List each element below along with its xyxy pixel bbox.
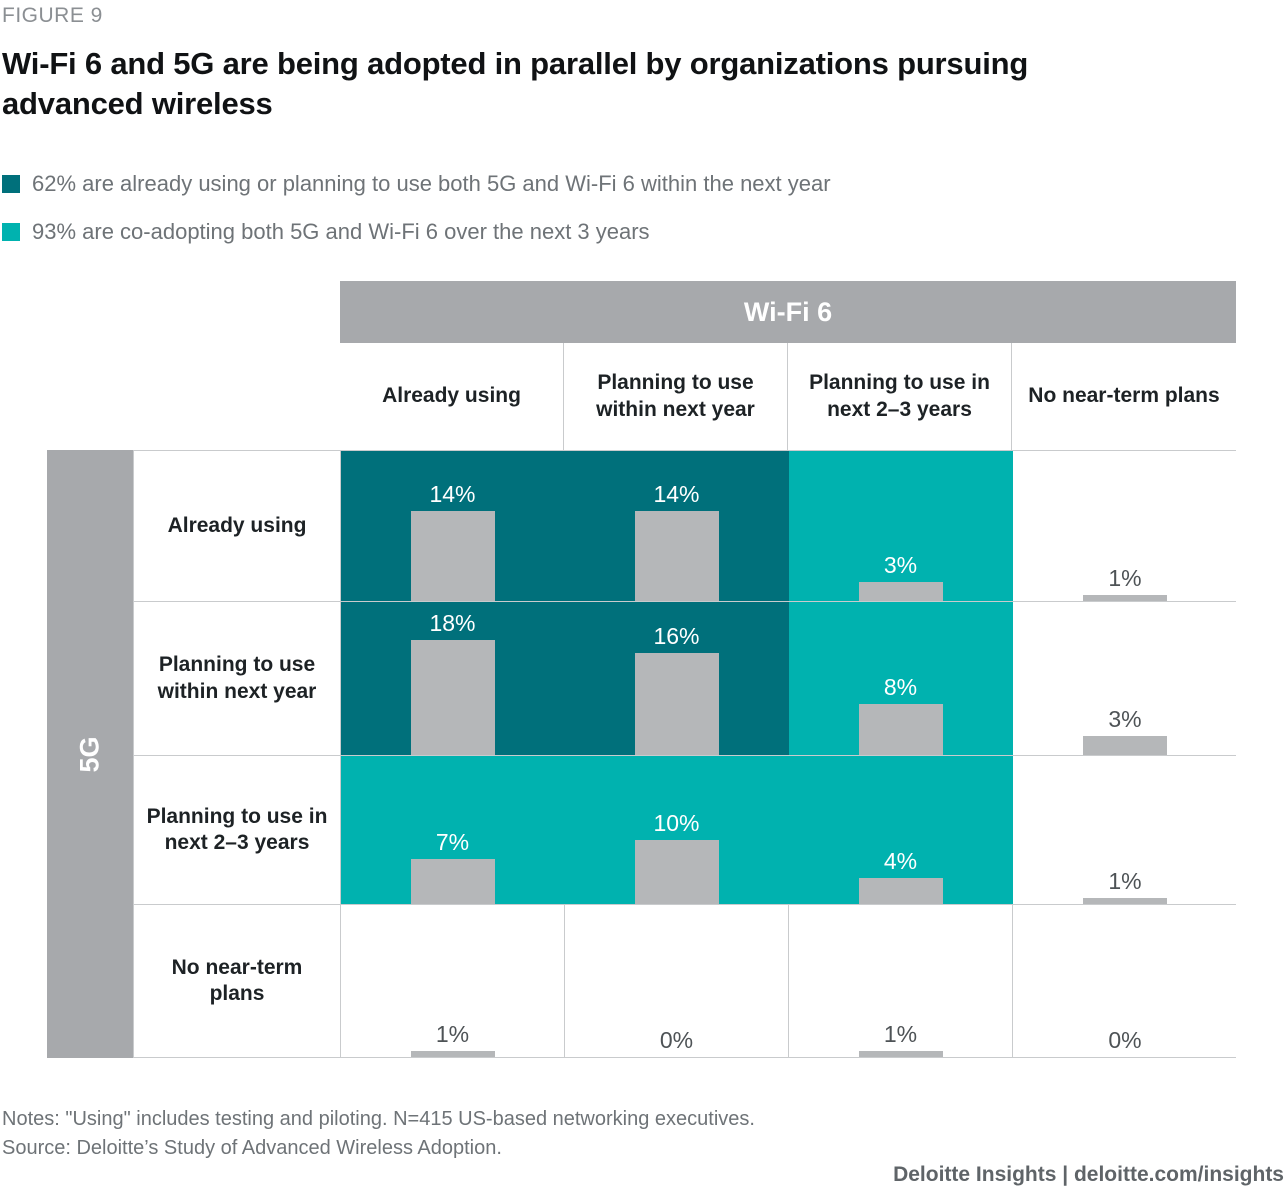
figure-label: FIGURE 9 [2, 4, 103, 28]
matrix-row: Already using14%14%3%1% [134, 451, 1236, 602]
column-header-already-using: Already using [340, 343, 564, 450]
bar-value-label: 1% [1108, 565, 1141, 592]
row-header: Planning to use in next 2–3 years [134, 756, 341, 904]
matrix-cell: 3% [1013, 602, 1237, 755]
bar-value-label: 18% [429, 610, 475, 637]
bar-value-label: 14% [429, 481, 475, 508]
notes-block: Notes: "Using" includes testing and pilo… [2, 1105, 755, 1163]
value-bar [411, 640, 495, 755]
column-header-no-near-term: No near-term plans [1012, 343, 1236, 450]
bar-value-label: 16% [653, 623, 699, 650]
matrix-row: Planning to use in next 2–3 years7%10%4%… [134, 756, 1236, 905]
bar-value-label: 10% [653, 810, 699, 837]
value-bar [1083, 595, 1167, 601]
value-bar [411, 1051, 495, 1057]
matrix-cell: 14% [565, 451, 789, 601]
matrix-body: Already using14%14%3%1%Planning to use w… [133, 450, 1236, 1058]
value-bar [411, 511, 495, 601]
source-line: Source: Deloitte’s Study of Advanced Wir… [2, 1134, 755, 1163]
legend-swatch-dark-teal [2, 175, 20, 193]
matrix-row: Planning to use within next year18%16%8%… [134, 602, 1236, 756]
matrix-cell: 0% [565, 905, 789, 1057]
bar-value-label: 1% [884, 1021, 917, 1048]
matrix-cell: 16% [565, 602, 789, 755]
matrix-cell: 7% [341, 756, 565, 904]
column-header-next-2-3-years: Planning to use in next 2–3 years [788, 343, 1012, 450]
matrix-cell: 8% [789, 602, 1013, 755]
row-axis-title: 5G [47, 450, 133, 1058]
legend: 62% are already using or planning to use… [2, 160, 1102, 256]
row-axis-title-label: 5G [75, 736, 106, 772]
adoption-matrix: Wi-Fi 6 Already using Planning to use wi… [47, 281, 1236, 1058]
bar-value-label: 0% [1108, 1027, 1141, 1054]
legend-item: 93% are co-adopting both 5G and Wi-Fi 6 … [2, 208, 1102, 256]
publisher-credit: Deloitte Insights | deloitte.com/insight… [893, 1163, 1284, 1187]
matrix-cell: 4% [789, 756, 1013, 904]
legend-item: 62% are already using or planning to use… [2, 160, 1102, 208]
matrix-cell: 0% [1013, 905, 1237, 1057]
bar-value-label: 3% [884, 552, 917, 579]
notes-line: Notes: "Using" includes testing and pilo… [2, 1105, 755, 1134]
value-bar [1083, 898, 1167, 904]
matrix-cell: 1% [1013, 756, 1237, 904]
row-header: No near-term plans [134, 905, 341, 1057]
matrix-cell: 1% [341, 905, 565, 1057]
matrix-cell: 18% [341, 602, 565, 755]
column-axis-title: Wi-Fi 6 [340, 281, 1236, 343]
matrix-cell: 10% [565, 756, 789, 904]
value-bar [859, 878, 943, 904]
matrix-cell: 14% [341, 451, 565, 601]
value-bar [859, 1051, 943, 1057]
matrix-row: No near-term plans1%0%1%0% [134, 905, 1236, 1058]
value-bar [635, 653, 719, 755]
legend-label: 62% are already using or planning to use… [32, 171, 831, 197]
column-header-within-next-year: Planning to use within next year [564, 343, 788, 450]
row-header: Already using [134, 451, 341, 601]
matrix-cell: 1% [789, 905, 1013, 1057]
bar-value-label: 1% [436, 1021, 469, 1048]
bar-value-label: 1% [1108, 868, 1141, 895]
legend-label: 93% are co-adopting both 5G and Wi-Fi 6 … [32, 219, 650, 245]
value-bar [859, 582, 943, 601]
value-bar [635, 511, 719, 601]
bar-value-label: 3% [1108, 706, 1141, 733]
value-bar [411, 859, 495, 904]
bar-value-label: 7% [436, 829, 469, 856]
bar-value-label: 14% [653, 481, 699, 508]
value-bar [1083, 736, 1167, 755]
bar-value-label: 8% [884, 674, 917, 701]
row-header: Planning to use within next year [134, 602, 341, 755]
page-title: Wi-Fi 6 and 5G are being adopted in para… [2, 44, 1032, 125]
bar-value-label: 0% [660, 1027, 693, 1054]
legend-swatch-light-teal [2, 223, 20, 241]
bar-value-label: 4% [884, 848, 917, 875]
value-bar [635, 840, 719, 904]
matrix-cell: 3% [789, 451, 1013, 601]
value-bar [859, 704, 943, 755]
matrix-cell: 1% [1013, 451, 1237, 601]
column-headers: Already using Planning to use within nex… [340, 343, 1236, 451]
